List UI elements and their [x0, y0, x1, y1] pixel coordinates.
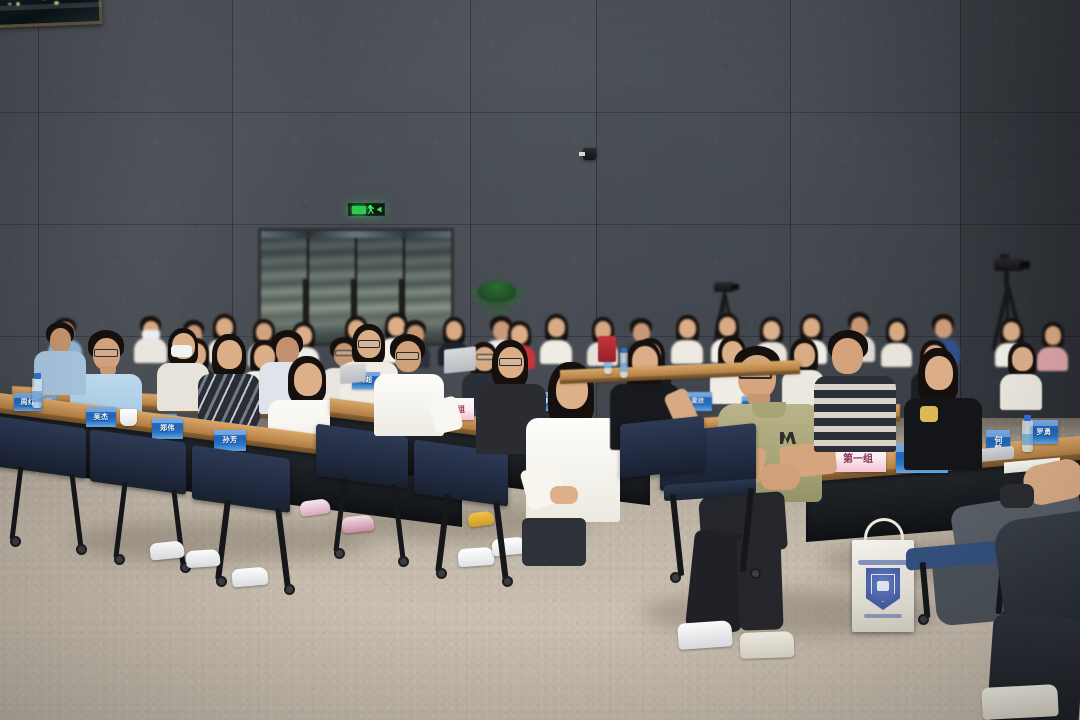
wall-seam — [0, 112, 1080, 113]
necklace — [920, 406, 938, 422]
chair-caster — [502, 576, 513, 587]
shoe — [149, 540, 185, 560]
wall-speaker-icon — [583, 148, 596, 160]
conference-chair[interactable] — [620, 416, 704, 479]
shoe — [231, 566, 268, 587]
table-row-back-right — [560, 370, 800, 410]
audience-middle-front — [380, 326, 640, 566]
chair-caster — [670, 572, 681, 583]
attendee-edge-foreground — [1006, 516, 1080, 716]
trousers — [522, 518, 586, 566]
water-bottle — [32, 378, 42, 408]
chair-caster — [216, 576, 227, 587]
red-box — [598, 336, 616, 362]
chair-caster — [436, 568, 447, 579]
photo-scene: 王丽 李军 张强 刘敏 — [0, 0, 1080, 720]
shoe — [677, 620, 733, 650]
camera-lens-icon — [1020, 261, 1030, 269]
camera-viewfinder-icon — [1000, 254, 1009, 259]
chair-caster — [284, 584, 295, 595]
shoe — [185, 549, 220, 568]
conference-chair[interactable] — [0, 415, 86, 478]
chair-caster — [334, 548, 345, 559]
laptop[interactable] — [340, 363, 366, 385]
door-transom — [261, 231, 451, 238]
chair-caster — [918, 614, 929, 625]
exit-sign — [348, 203, 385, 216]
camera-body-icon — [714, 282, 734, 292]
shoe — [740, 631, 795, 659]
hand — [550, 486, 578, 504]
wall-seam — [0, 224, 1080, 225]
conference-chair[interactable] — [90, 429, 186, 494]
crest-text-line — [864, 614, 902, 618]
exit-sign-bar-icon — [352, 206, 366, 214]
chair-caster — [10, 536, 21, 547]
chair-caster — [750, 568, 761, 579]
exit-arrow-icon — [377, 207, 382, 213]
chair-caster — [76, 544, 87, 555]
chair-caster — [114, 554, 125, 565]
ceiling-light-glint — [16, 2, 20, 6]
camera-lens-icon — [732, 284, 739, 290]
shoe — [981, 684, 1059, 720]
water-bottle — [620, 352, 628, 378]
face-mask — [171, 345, 192, 357]
ceiling-light-glint — [54, 1, 59, 5]
tripod-head — [1004, 271, 1009, 287]
conference-chair[interactable] — [192, 445, 290, 513]
running-man-exit-icon — [367, 205, 376, 214]
